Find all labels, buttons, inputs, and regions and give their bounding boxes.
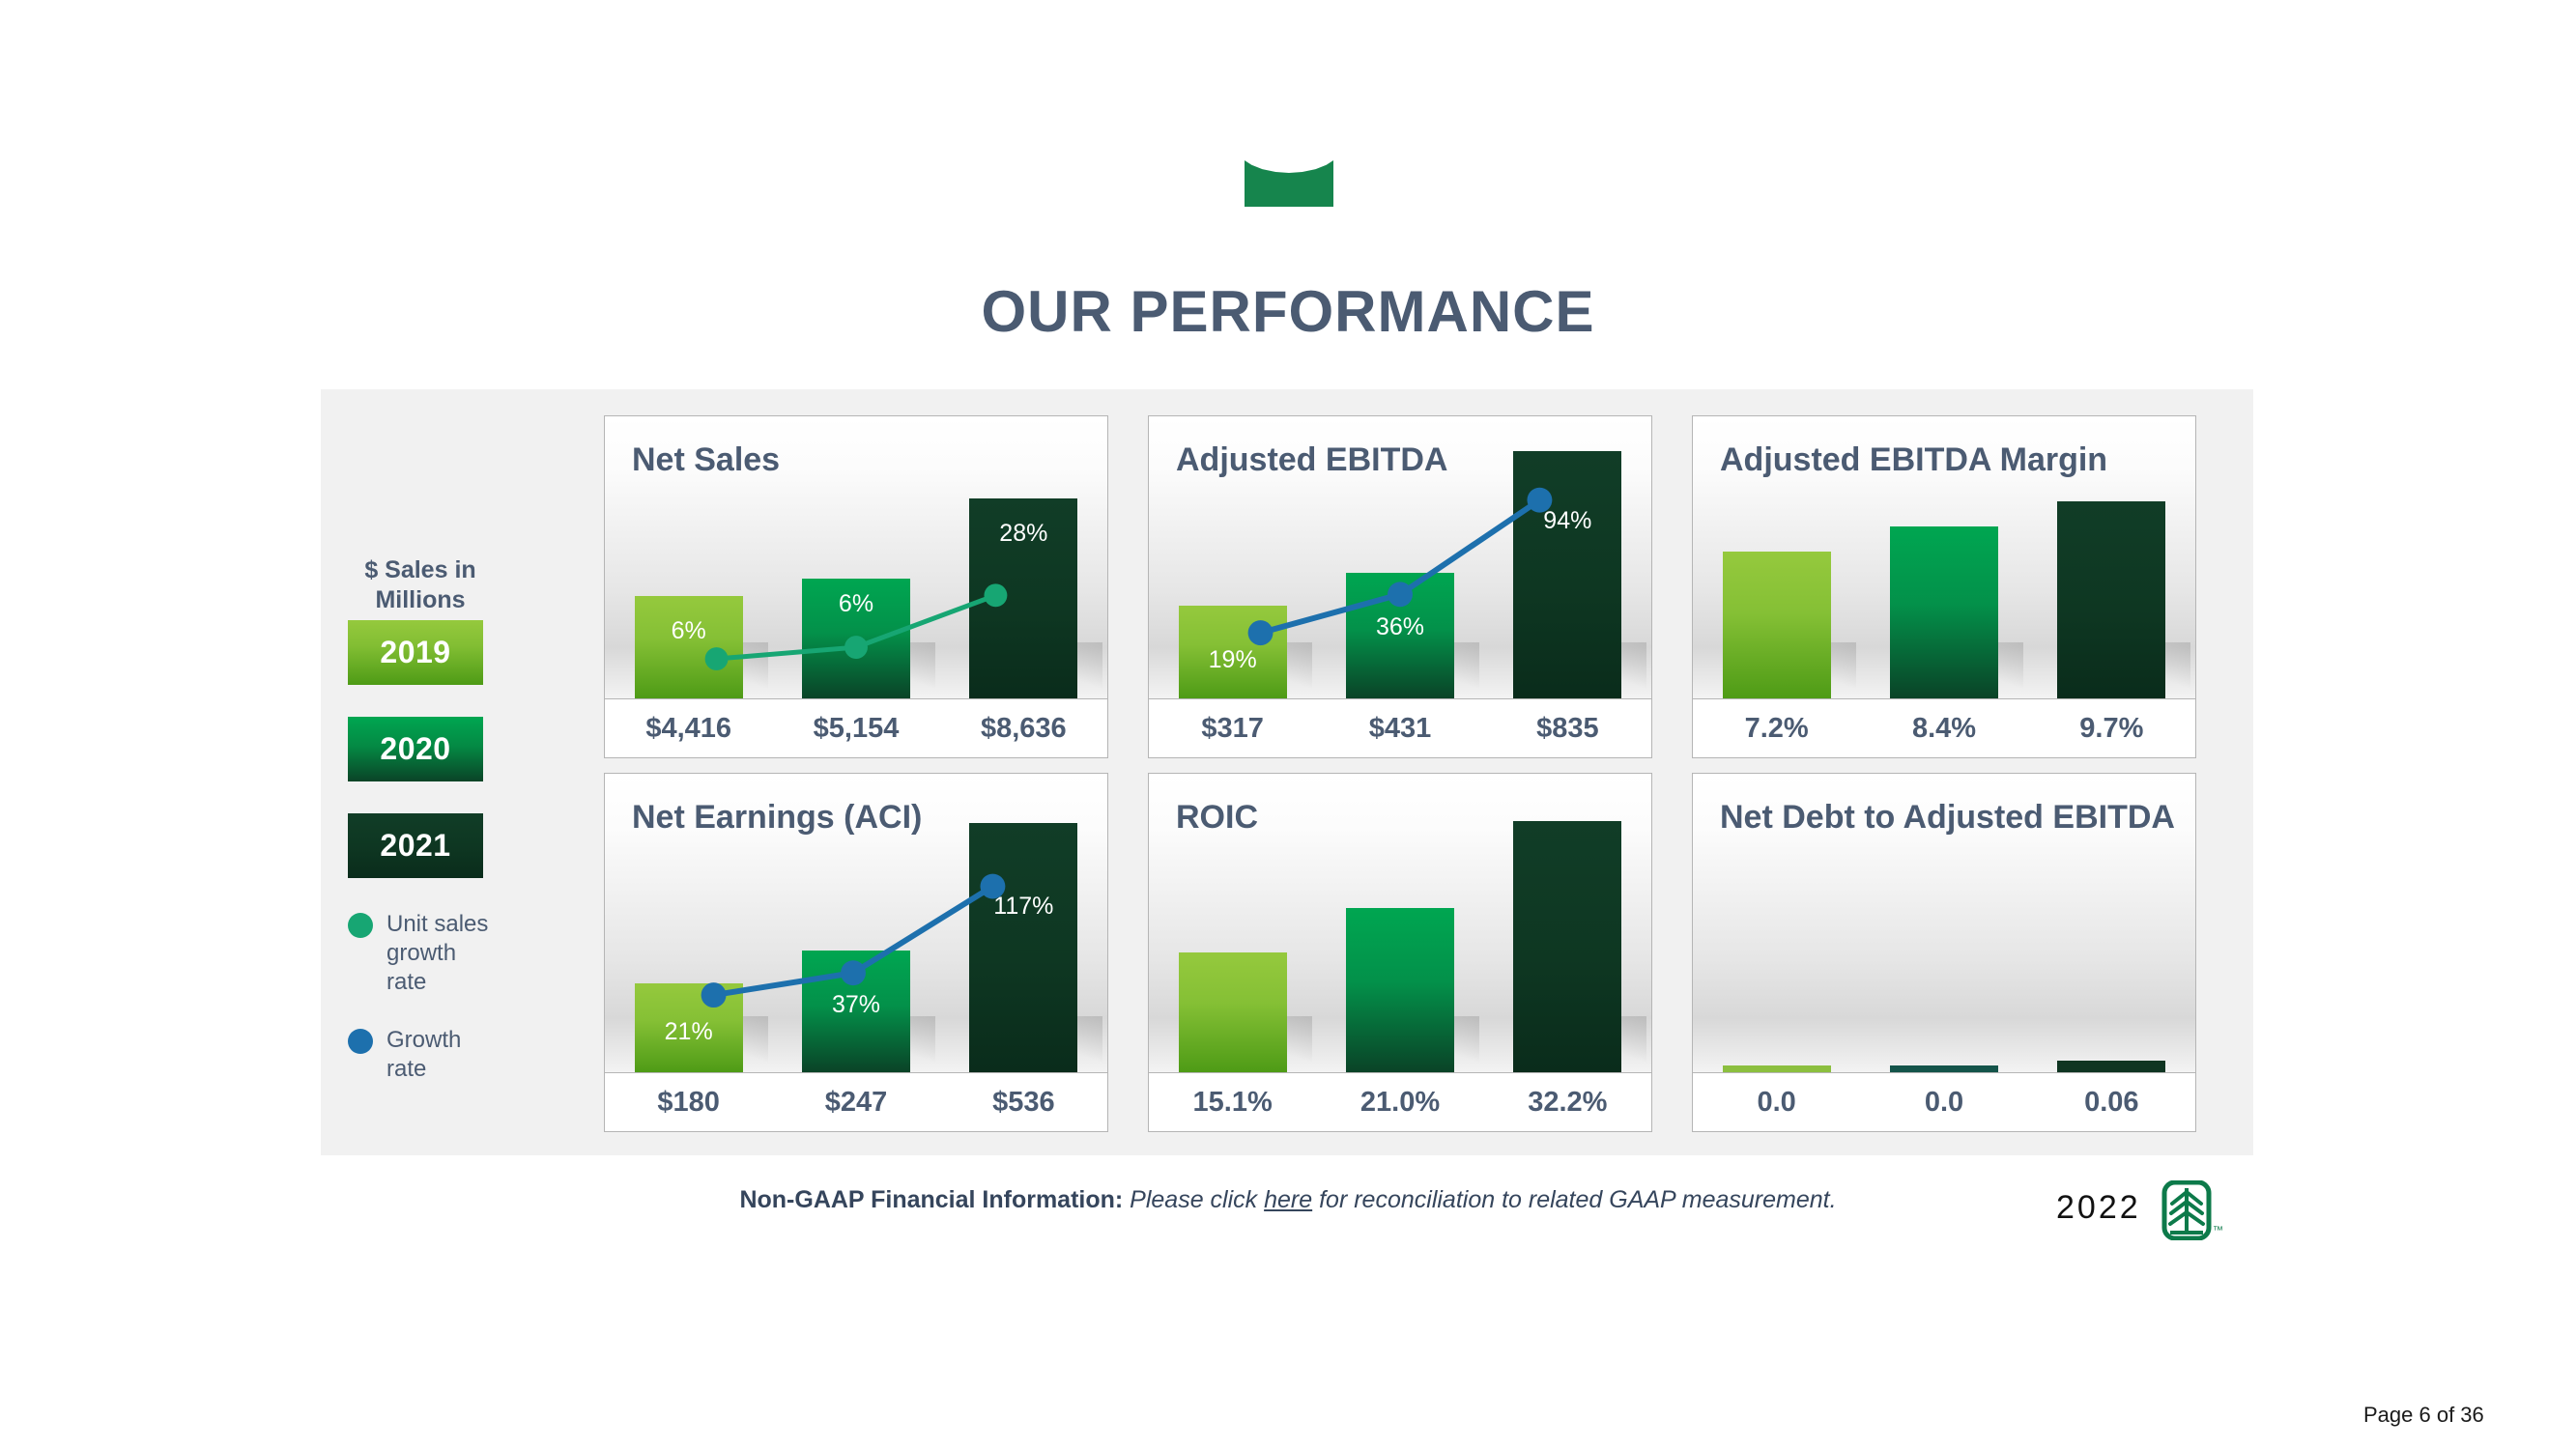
value-2020: 0.0: [1860, 1087, 2027, 1119]
bar-2019: 6%: [635, 596, 743, 698]
non-gaap-label: Non-GAAP Financial Information:: [739, 1186, 1123, 1213]
bar-2020-pct: 6%: [839, 590, 873, 618]
legend-key-unit-sales: Unit sales growth rate: [348, 910, 493, 997]
trademark-mark: ™: [2213, 1225, 2223, 1236]
swoosh-banner-icon: [1245, 160, 1333, 207]
panel-adjusted-ebitda[interactable]: Adjusted EBITDA 19% 36% 94% $317 $431 $8…: [1148, 415, 1652, 758]
panel-net-debt-to-adjusted-ebitda[interactable]: Net Debt to Adjusted EBITDA 0.0 0.0 0.06: [1692, 773, 2196, 1132]
bar-slot: 6%: [772, 416, 939, 698]
bar-2021-pct: 117%: [993, 893, 1053, 921]
panel-net-debt-values: 0.0 0.0 0.06: [1692, 1072, 2196, 1132]
growth-rate-dot-icon: [348, 1029, 373, 1054]
value-2019: $180: [605, 1087, 772, 1119]
bar-slot: [1484, 774, 1651, 1072]
panel-adjusted-ebitda-margin-values: 7.2% 8.4% 9.7%: [1692, 698, 2196, 758]
bar-2020: [1890, 1065, 1998, 1072]
bar-2019: 21%: [635, 983, 743, 1072]
bar-slot: 28%: [940, 416, 1107, 698]
panel-net-earnings-title: Net Earnings (ACI): [632, 799, 922, 837]
panel-net-debt-title: Net Debt to Adjusted EBITDA: [1720, 799, 2175, 837]
bar-slot: 94%: [1484, 416, 1651, 698]
panel-net-sales[interactable]: Net Sales 6% 6% 28% $4,416 $5,154 $8,636: [604, 415, 1108, 758]
page-title: OUR PERFORMANCE: [0, 278, 2576, 345]
panel-net-earnings-chart: Net Earnings (ACI) 21% 37% 117%: [604, 773, 1108, 1073]
bar-2020: [1346, 908, 1454, 1072]
value-2019: $4,416: [605, 713, 772, 745]
panel-net-sales-values: $4,416 $5,154 $8,636: [604, 698, 1108, 758]
bar-2020-pct: 37%: [832, 991, 880, 1019]
value-2019: 7.2%: [1693, 713, 1860, 745]
value-2021: $8,636: [940, 713, 1107, 745]
pine-tree-logo: [2161, 1180, 2212, 1240]
panel-roic-chart: ROIC: [1148, 773, 1652, 1073]
panel-net-earnings[interactable]: Net Earnings (ACI) 21% 37% 117% $180 $24…: [604, 773, 1108, 1132]
chart-legend: $ Sales in Millions 2019 2020 2021 Unit …: [348, 555, 493, 1084]
value-2019: 15.1%: [1149, 1087, 1316, 1119]
bar-2019: [1723, 552, 1831, 698]
bar-2020: 6%: [802, 579, 910, 698]
non-gaap-here-link[interactable]: here: [1264, 1186, 1312, 1213]
bar-2021-pct: 94%: [1543, 507, 1591, 535]
bar-2021: [2057, 501, 2165, 698]
bar-2021: [2057, 1061, 2165, 1072]
bar-2019-pct: 19%: [1209, 646, 1257, 674]
panel-roic-values: 15.1% 21.0% 32.2%: [1148, 1072, 1652, 1132]
bar-2019-pct: 21%: [665, 1018, 713, 1046]
legend-year-2021: 2021: [348, 813, 483, 878]
non-gaap-text-before: Please click: [1123, 1186, 1264, 1213]
legend-year-2019: 2019: [348, 620, 483, 685]
value-2019: 0.0: [1693, 1087, 1860, 1119]
page-number: Page 6 of 36: [2363, 1403, 2484, 1428]
value-2021: $835: [1484, 713, 1651, 745]
panel-roic-title: ROIC: [1176, 799, 1258, 837]
bar-2020: 36%: [1346, 573, 1454, 698]
panel-net-debt-chart: Net Debt to Adjusted EBITDA: [1692, 773, 2196, 1073]
bar-2019-pct: 6%: [672, 617, 706, 645]
unit-sales-dot-icon: [348, 913, 373, 938]
panel-adjusted-ebitda-title: Adjusted EBITDA: [1176, 441, 1447, 479]
non-gaap-text-after: for reconciliation to related GAAP measu…: [1312, 1186, 1836, 1213]
slide-root: OUR PERFORMANCE $ Sales in Millions 2019…: [0, 0, 2576, 1448]
panel-adjusted-ebitda-margin[interactable]: Adjusted EBITDA Margin 7.2% 8.4% 9.7%: [1692, 415, 2196, 758]
legend-year-2020: 2020: [348, 717, 483, 781]
panel-net-earnings-values: $180 $247 $536: [604, 1072, 1108, 1132]
value-2020: $5,154: [772, 713, 939, 745]
panel-net-sales-chart: Net Sales 6% 6% 28%: [604, 415, 1108, 699]
value-2020: 8.4%: [1860, 713, 2027, 745]
panel-roic[interactable]: ROIC 15.1% 21.0% 32.2%: [1148, 773, 1652, 1132]
panel-net-sales-title: Net Sales: [632, 441, 780, 479]
value-2021: 9.7%: [2028, 713, 2195, 745]
panel-adjusted-ebitda-margin-chart: Adjusted EBITDA Margin: [1692, 415, 2196, 699]
bar-2021: 94%: [1513, 451, 1621, 698]
bar-2020: 37%: [802, 951, 910, 1072]
bar-2020: [1890, 526, 1998, 698]
legend-year-2020-label: 2020: [380, 731, 450, 767]
legend-key-growth-rate-label: Growth rate: [386, 1026, 493, 1084]
value-2020: $431: [1316, 713, 1483, 745]
bar-slot: 117%: [940, 774, 1107, 1072]
bar-2021-pct: 28%: [999, 520, 1047, 548]
bar-slot: [1316, 774, 1483, 1072]
legend-year-2021-label: 2021: [380, 828, 450, 864]
legend-year-2019-label: 2019: [380, 635, 450, 670]
panel-adjusted-ebitda-values: $317 $431 $835: [1148, 698, 1652, 758]
bar-2021: 117%: [969, 823, 1077, 1072]
bar-2021: [1513, 821, 1621, 1072]
value-2021: 0.06: [2028, 1087, 2195, 1119]
bar-2020-pct: 36%: [1376, 613, 1424, 641]
bar-2021: 28%: [969, 498, 1077, 698]
value-2020: 21.0%: [1316, 1087, 1483, 1119]
bar-2019: [1179, 952, 1287, 1072]
value-2020: $247: [772, 1087, 939, 1119]
panel-adjusted-ebitda-chart: Adjusted EBITDA 19% 36% 94%: [1148, 415, 1652, 699]
value-2019: $317: [1149, 713, 1316, 745]
bar-2019: [1723, 1065, 1831, 1072]
value-2021: $536: [940, 1087, 1107, 1119]
footer-year: 2022: [2056, 1189, 2141, 1227]
legend-caption: $ Sales in Millions: [348, 555, 493, 614]
value-2021: 32.2%: [1484, 1087, 1651, 1119]
legend-key-growth-rate: Growth rate: [348, 1026, 493, 1084]
bar-2019: 19%: [1179, 606, 1287, 698]
legend-key-unit-sales-label: Unit sales growth rate: [386, 910, 493, 997]
panel-adjusted-ebitda-margin-title: Adjusted EBITDA Margin: [1720, 441, 2107, 479]
